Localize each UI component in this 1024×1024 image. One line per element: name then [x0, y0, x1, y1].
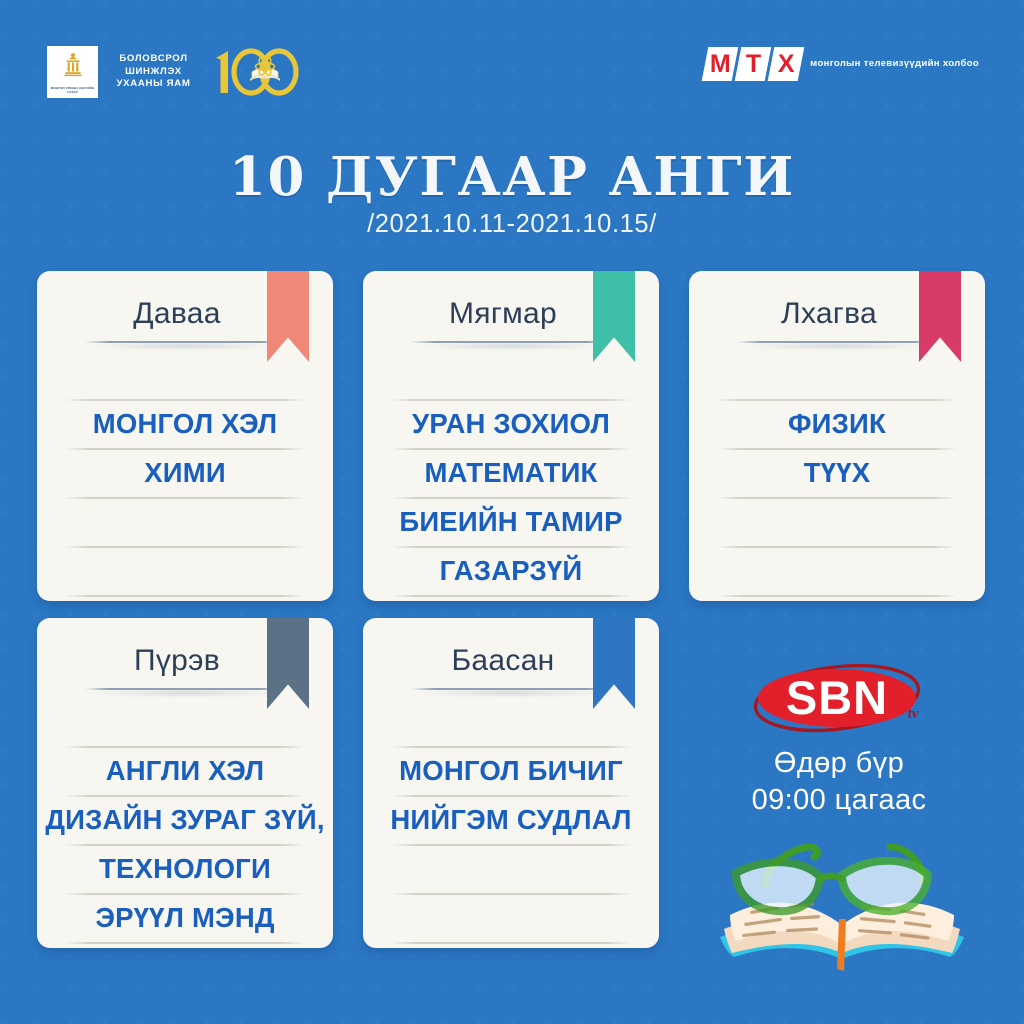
mtx-letter: Х	[778, 50, 794, 79]
rule-line	[65, 942, 305, 944]
card-body: МОНГОЛ ХЭЛХИМИ	[37, 363, 333, 601]
rule-line	[65, 595, 305, 597]
schedule-line-1: Өдөр бүр	[691, 745, 987, 782]
subject-item: ТҮҮХ	[697, 448, 977, 497]
mtx-letter: М	[710, 50, 730, 79]
card-head: Мягмар	[363, 271, 659, 363]
card-head: Лхагва	[689, 271, 985, 363]
ministry-lockup: МОНГОЛ УЛСЫН ЗАСГИЙН ГАЗАР БОЛОВСРОЛ ШИН…	[47, 46, 302, 98]
subject-list: АНГЛИ ХЭЛДИЗАЙН ЗУРАГ ЗҮЙ, ТЕХНОЛОГИЭРҮҮ…	[45, 746, 325, 942]
subject-item: ХИМИ	[45, 448, 325, 497]
bookmark-ribbon-icon	[919, 271, 961, 362]
schedule-line-2: 09:00 цагаас	[691, 782, 987, 819]
soyombo-emblem-icon	[60, 52, 86, 79]
rule-line	[65, 546, 305, 548]
ministry-name: БОЛОВСРОЛ ШИНЖЛЭХ УХААНЫ ЯАМ	[107, 53, 200, 90]
bookmark-ribbon-icon	[267, 618, 309, 709]
day-name-underline	[737, 341, 937, 343]
subject-item: БИЕИЙН ТАМИР	[371, 497, 651, 546]
card-head: Даваа	[37, 271, 333, 363]
day-card: ДавааМОНГОЛ ХЭЛХИМИ	[37, 271, 333, 601]
mtx-tile: М	[702, 47, 739, 81]
day-name-underline	[411, 688, 611, 690]
open-book-with-glasses-icon	[698, 833, 986, 973]
sbn-panel: SBN tv Өдөр бүр 09:00 цагаас	[691, 628, 987, 975]
mtx-lockup: М Т Х монголын телевизүүдийн холбоо	[705, 47, 979, 81]
card-head: Баасан	[363, 618, 659, 710]
subject-list: УРАН ЗОХИОЛМАТЕМАТИКБИЕИЙН ТАМИРГАЗАРЗҮЙ	[371, 399, 651, 595]
card-head: Пүрэв	[37, 618, 333, 710]
emblem-caption: МОНГОЛ УЛСЫН ЗАСГИЙН ГАЗАР	[47, 86, 98, 94]
100-anniversary-book-atom-icon	[212, 47, 302, 97]
subject-item: ЭРҮҮЛ МЭНД	[45, 893, 325, 942]
mongolia-government-emblem-icon: МОНГОЛ УЛСЫН ЗАСГИЙН ГАЗАР	[47, 46, 98, 98]
subject-item: МАТЕМАТИК	[371, 448, 651, 497]
mtx-logo-icon: М Т Х	[702, 47, 805, 81]
subject-item: МОНГОЛ БИЧИГ	[371, 746, 651, 795]
day-card: БаасанМОНГОЛ БИЧИГНИЙГЭМ СУДЛАЛ	[363, 618, 659, 948]
rule-line	[717, 595, 957, 597]
title-block: 10 ДУГААР АНГИ /2021.10.11-2021.10.15/	[0, 148, 1024, 239]
bookmark-ribbon-icon	[267, 271, 309, 362]
subject-item: АНГЛИ ХЭЛ	[45, 746, 325, 795]
day-name-underline	[411, 341, 611, 343]
card-body: УРАН ЗОХИОЛМАТЕМАТИКБИЕИЙН ТАМИРГАЗАРЗҮЙ	[363, 363, 659, 601]
page-title: 10 ДУГААР АНГИ	[0, 148, 1024, 206]
svg-text:tv: tv	[908, 706, 919, 722]
svg-text:SBN: SBN	[786, 671, 888, 724]
day-card: ПүрэвАНГЛИ ХЭЛДИЗАЙН ЗУРАГ ЗҮЙ, ТЕХНОЛОГ…	[37, 618, 333, 948]
subject-list: МОНГОЛ БИЧИГНИЙГЭМ СУДЛАЛ	[371, 746, 651, 844]
card-body: МОНГОЛ БИЧИГНИЙГЭМ СУДЛАЛ	[363, 710, 659, 948]
subject-list: ФИЗИКТҮҮХ	[697, 399, 977, 497]
subject-item: НИЙГЭМ СУДЛАЛ	[371, 795, 651, 844]
mtx-tile: Х	[768, 47, 805, 81]
broadcast-info: Өдөр бүр 09:00 цагаас	[691, 745, 987, 819]
rule-line	[717, 497, 957, 499]
subject-item: МОНГОЛ ХЭЛ	[45, 399, 325, 448]
subject-list: МОНГОЛ ХЭЛХИМИ	[45, 399, 325, 497]
card-body: ФИЗИКТҮҮХ	[689, 363, 985, 601]
rule-line	[717, 546, 957, 548]
rule-line	[391, 893, 631, 895]
date-range: /2021.10.11-2021.10.15/	[0, 209, 1024, 239]
mtx-name: монголын телевизүүдийн холбоо	[810, 58, 979, 71]
rule-line	[391, 942, 631, 944]
day-card: ЛхагваФИЗИКТҮҮХ	[689, 271, 985, 601]
card-body: АНГЛИ ХЭЛДИЗАЙН ЗУРАГ ЗҮЙ, ТЕХНОЛОГИЭРҮҮ…	[37, 710, 333, 948]
day-card: МягмарУРАН ЗОХИОЛМАТЕМАТИКБИЕИЙН ТАМИРГА…	[363, 271, 659, 601]
subject-item: УРАН ЗОХИОЛ	[371, 399, 651, 448]
mtx-letter: Т	[746, 50, 761, 79]
subject-item: ГАЗАРЗҮЙ	[371, 546, 651, 595]
bookmark-ribbon-icon	[593, 271, 635, 362]
day-name-underline	[85, 688, 285, 690]
rule-line	[391, 844, 631, 846]
day-name-underline	[85, 341, 285, 343]
rule-line	[391, 595, 631, 597]
rule-line	[65, 497, 305, 499]
subject-item: ДИЗАЙН ЗУРАГ ЗҮЙ, ТЕХНОЛОГИ	[45, 795, 325, 893]
sbn-tv-logo-icon: SBN tv	[743, 658, 935, 738]
header: МОНГОЛ УЛСЫН ЗАСГИЙН ГАЗАР БОЛОВСРОЛ ШИН…	[0, 0, 1024, 126]
subject-item: ФИЗИК	[697, 399, 977, 448]
mtx-tile: Т	[735, 47, 772, 81]
bookmark-ribbon-icon	[593, 618, 635, 709]
